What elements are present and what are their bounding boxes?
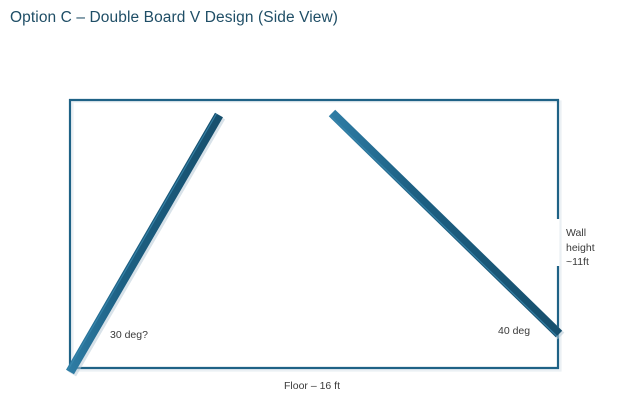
- right-board-angle-label: 40 deg: [498, 324, 530, 339]
- side-view-diagram: [0, 0, 624, 407]
- right-board: [330, 113, 561, 336]
- right-board-edge-highlight: [330, 115, 557, 336]
- right-board-body: [332, 113, 559, 334]
- wall-height-label: Wall height ~11ft: [566, 226, 620, 270]
- floor-dimension-label: Floor – 16 ft: [0, 379, 624, 394]
- slide-canvas: Option C – Double Board V Design (Side V…: [0, 0, 624, 407]
- left-board-angle-label: 30 deg?: [110, 328, 148, 343]
